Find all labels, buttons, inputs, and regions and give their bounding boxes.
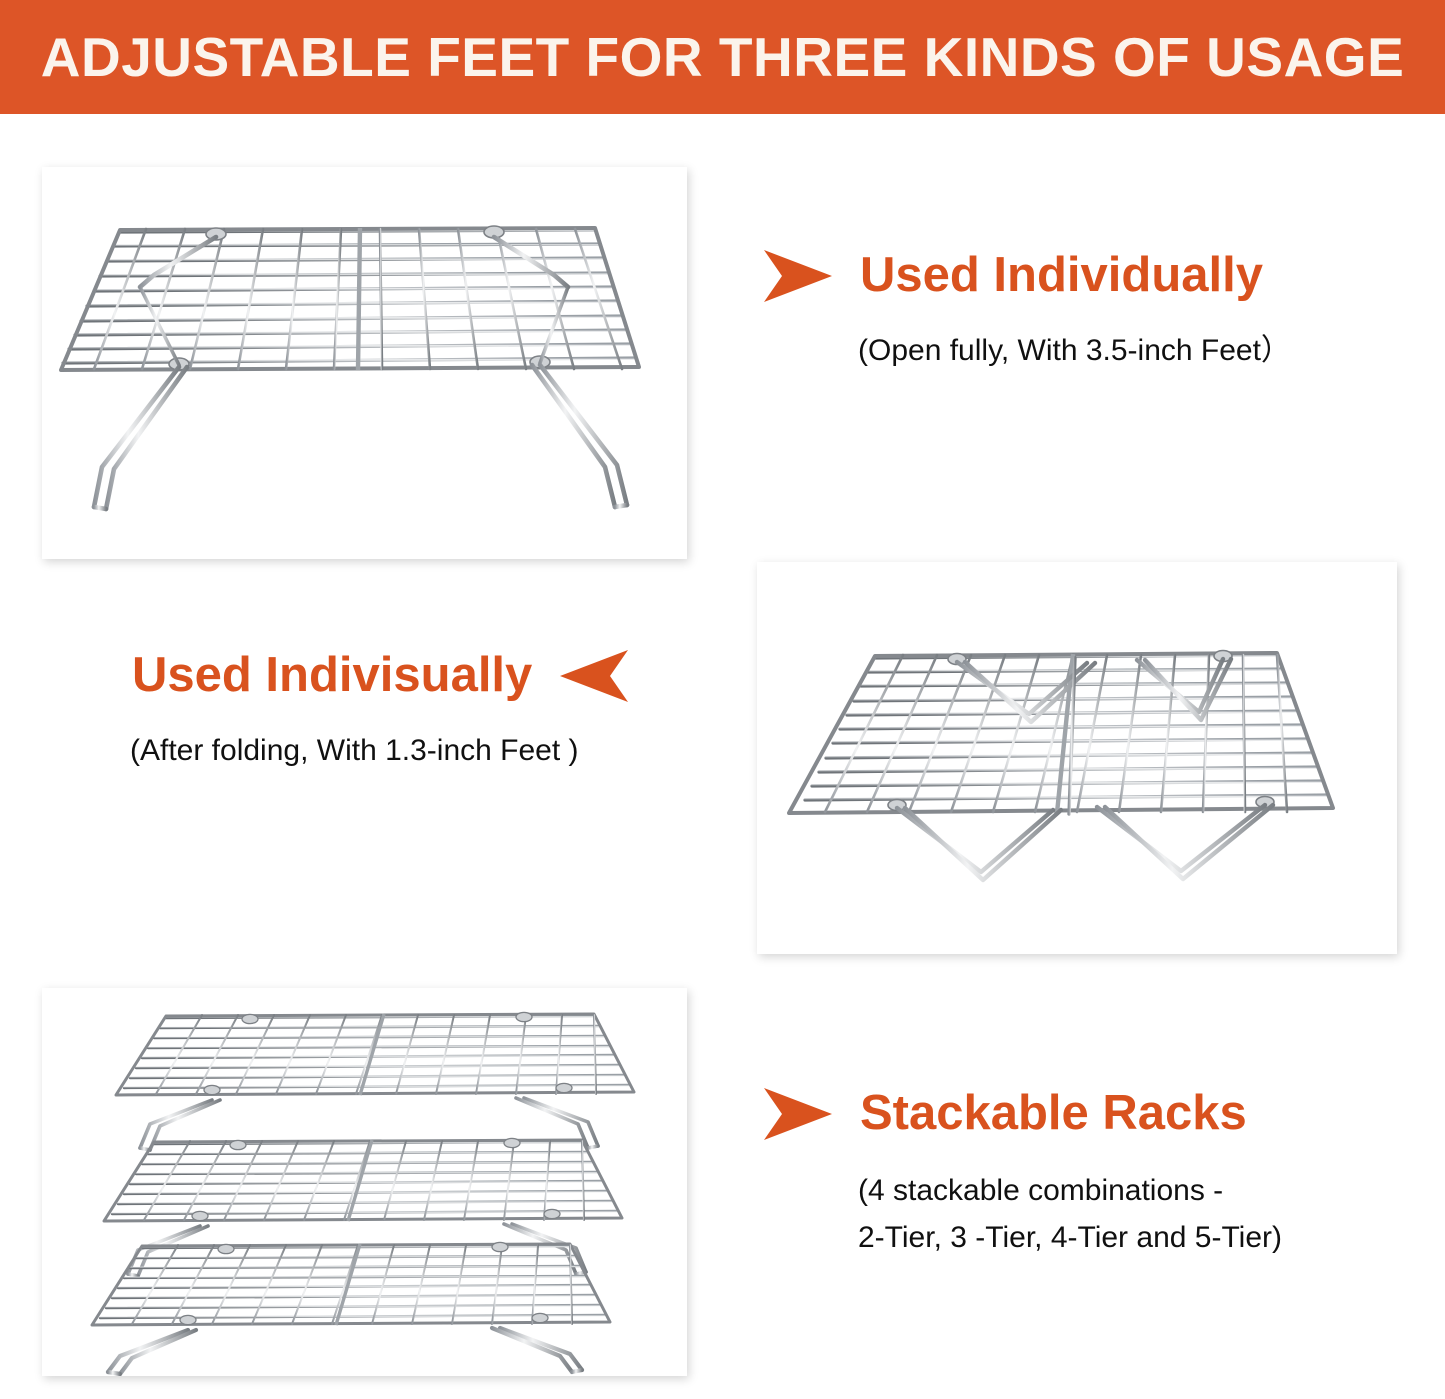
callout-heading: Used Individually: [860, 250, 1263, 301]
rack-tier-top: [116, 1012, 634, 1095]
callout-subtext: (4 stackable combinations - 2-Tier, 3 -T…: [858, 1168, 1282, 1261]
callout-stackable-racks: Stackable Racks (4 stackable combination…: [762, 1086, 1282, 1261]
product-photo-rack-stacked: [42, 988, 687, 1376]
banner-title: ADJUSTABLE FEET FOR THREE KINDS OF USAGE: [41, 30, 1405, 85]
rack-folded-illustration: [757, 562, 1397, 954]
rack-tier-bottom: [92, 1242, 610, 1325]
header-banner: ADJUSTABLE FEET FOR THREE KINDS OF USAGE: [0, 0, 1445, 114]
rack-grid-surface: [789, 653, 1333, 813]
callout-subtext-line: (Open fully, With 3.5-inch Feet）: [858, 328, 1291, 375]
rack-tier-bottom-legs: [108, 1328, 582, 1374]
callout-heading: Used Indivisually: [132, 650, 532, 701]
product-photo-rack-folded: [757, 562, 1397, 954]
product-photo-rack-open: [42, 167, 687, 559]
arrow-right-icon: [762, 1086, 834, 1142]
callout-subtext-line: (After folding, With 1.3-inch Feet ): [130, 728, 630, 775]
rack-stacked-illustration: [42, 988, 687, 1376]
rack-tier-middle: [104, 1138, 622, 1221]
callout-subtext-line: 2-Tier, 3 -Tier, 4-Tier and 5-Tier): [858, 1215, 1282, 1262]
callout-heading-row: Used Indivisually: [132, 648, 630, 704]
callout-heading-row: Used Individually: [762, 248, 1291, 304]
callout-subtext: (Open fully, With 3.5-inch Feet）: [858, 328, 1291, 375]
callout-used-individually: Used Individually (Open fully, With 3.5-…: [762, 248, 1291, 375]
callout-heading: Stackable Racks: [860, 1088, 1247, 1139]
arrow-right-icon: [762, 248, 834, 304]
callout-used-indivisually: Used Indivisually (After folding, With 1…: [132, 648, 630, 775]
callout-subtext-line: (4 stackable combinations -: [858, 1168, 1282, 1215]
callout-heading-row: Stackable Racks: [762, 1086, 1282, 1142]
rack-open-illustration: [42, 167, 687, 559]
callout-subtext: (After folding, With 1.3-inch Feet ): [130, 728, 630, 775]
arrow-left-icon: [558, 648, 630, 704]
